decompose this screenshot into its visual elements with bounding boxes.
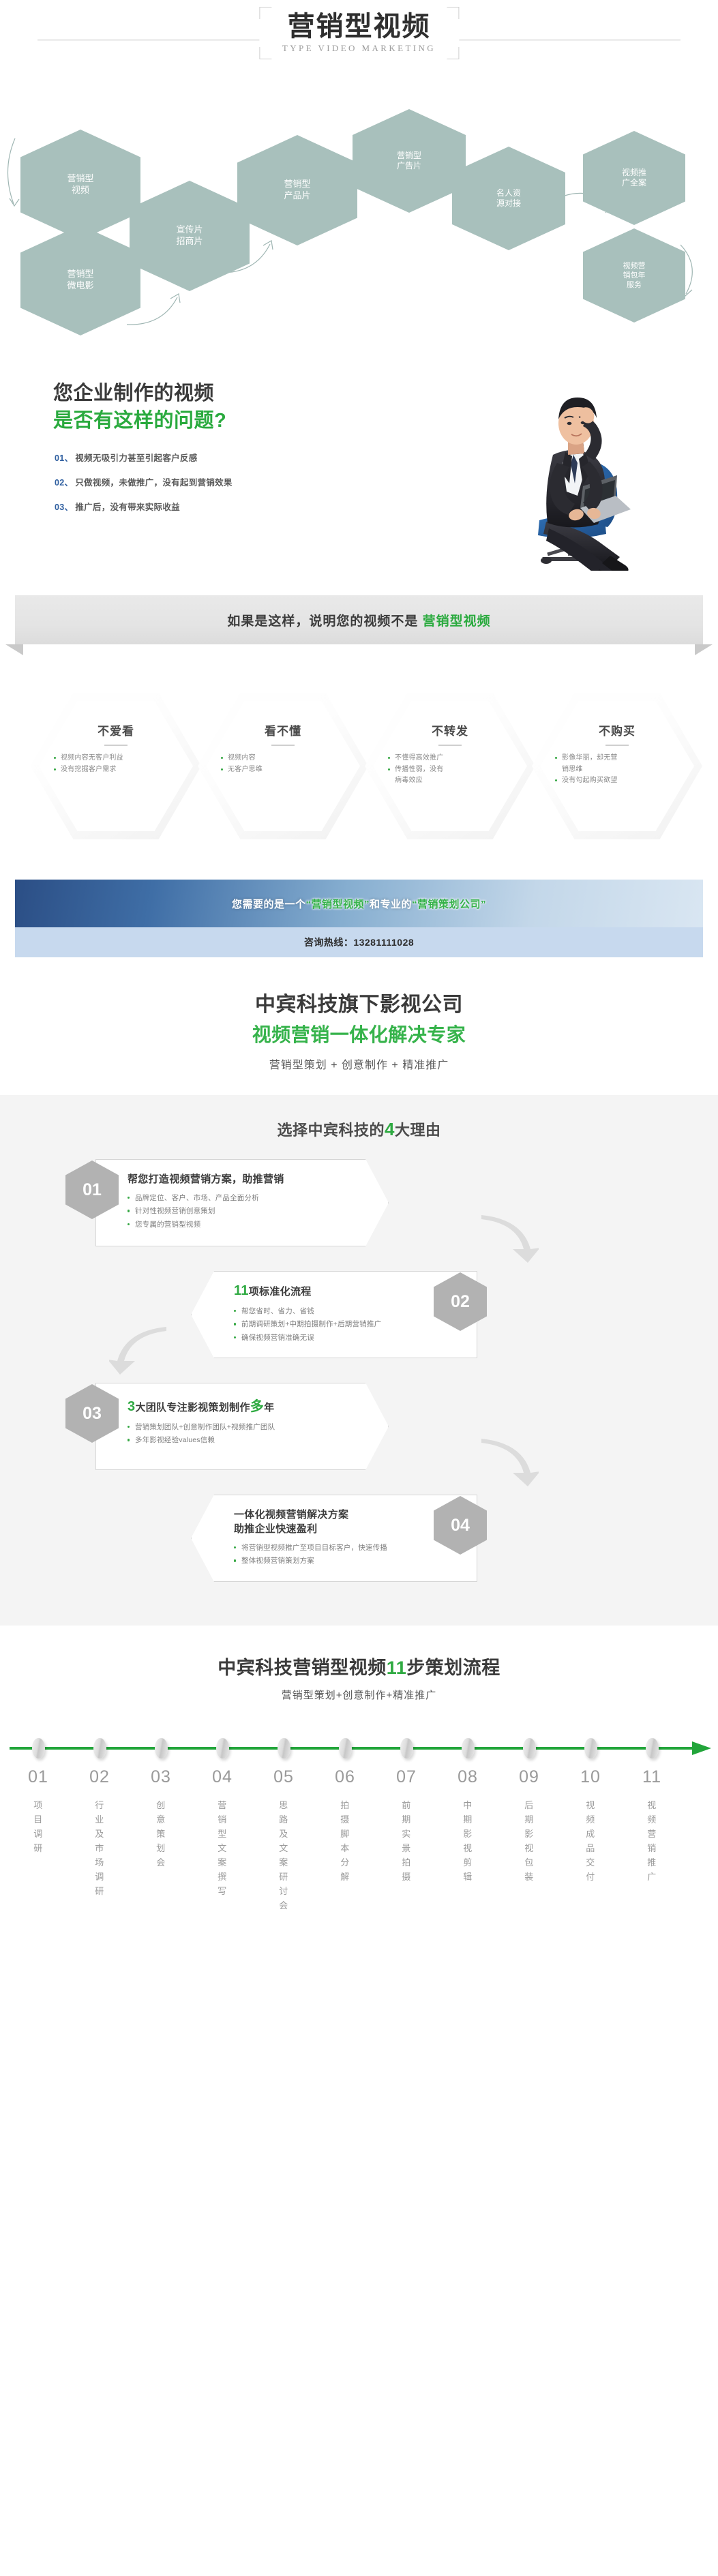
timeline-step: 09 后期影视包装 (508, 1767, 550, 1884)
service-hexagon[interactable]: 营销型视频 (20, 130, 140, 240)
timeline-step-label: 思路及文案研讨会 (263, 1798, 305, 1913)
problem-hexagon-bullet: 没有挖掘客户需求 (54, 764, 178, 776)
reason-bullets: 品牌定位、客户、市场、产品全面分析针对性视频营销创意策划您专属的营销型视频 (128, 1192, 368, 1231)
grey-ribbon-section: 如果是这样，说明您的视频不是 营销型视频 (0, 576, 718, 661)
service-hexagon-label: 名人资源对接 (488, 188, 529, 209)
problem-hexagon-bullet: 无客户思维 (221, 764, 345, 776)
corner-bracket-icon (259, 7, 271, 19)
timeline-step-label: 创意策划会 (140, 1798, 182, 1870)
timeline-node (32, 1738, 45, 1758)
reasons-heading-prefix: 选择中宾科技的 (278, 1122, 385, 1139)
timeline-node (462, 1738, 475, 1758)
service-hexagon-label: 营销型产品片 (275, 179, 318, 201)
reason-bullets: 营销策划团队+创意制作团队+视频推广团队多年影视经验values信赖 (128, 1421, 368, 1448)
divider (605, 745, 629, 746)
reason-bullet: 您专属的营销型视频 (128, 1218, 368, 1231)
timeline-step: 04 营销型文案撰写 (201, 1767, 243, 1898)
reason-flow-arrow-icon (477, 1437, 539, 1491)
timeline-node (646, 1738, 659, 1758)
timeline-step-label: 中期影视剪辑 (447, 1798, 489, 1884)
ribbon-tail-left (5, 644, 23, 655)
timeline-step-number: 07 (385, 1767, 428, 1787)
timeline-step-number: 04 (201, 1767, 243, 1787)
problem-item-text: 只做视频，未做推广，没有起到营销效果 (75, 478, 232, 488)
reason-bullet: 确保视频营销准确无误 (234, 1332, 456, 1345)
reason-bullet: 针对性视频营销创意策划 (128, 1205, 368, 1218)
four-reasons-section: 选择中宾科技的4大理由 帮您打造视频营销方案，助推营销 品牌定位、客户、市场、产… (0, 1095, 718, 1626)
timeline-step-label: 视频成品交付 (569, 1798, 612, 1884)
timeline-step-number: 05 (263, 1767, 305, 1787)
service-hexagon-cloud: 营销型视频宣传片招商片营销型产品片营销型广告片名人资源对接视频推广全案营销型微电… (0, 95, 718, 358)
businessman-illustration (466, 353, 691, 571)
reason-row: 帮您打造视频营销方案，助推营销 品牌定位、客户、市场、产品全面分析针对性视频营销… (0, 1151, 718, 1252)
reason-card-title: 11项标准化流程 (234, 1283, 456, 1299)
cta-blue-band: 您需要的是一个“营销型视频”和专业的“营销策划公司” (15, 880, 703, 927)
company-services: 营销型策划 + 创意制作 + 精准推广 (0, 1055, 718, 1072)
cta-section: 您需要的是一个“营销型视频”和专业的“营销策划公司” 咨询热线：13281111… (0, 873, 718, 982)
reason-flow-arrow-icon (477, 1214, 539, 1268)
timeline-node (339, 1738, 352, 1758)
problem-hexagon-bullet: 视频内容无客户利益 (54, 753, 178, 764)
problem-list: 01、视频无吸引力甚至引起客户反感02、只做视频，未做推广，没有起到营销效果03… (55, 451, 233, 524)
reason-bullet: 前期调研策划+中期拍摄制作+后期营销推广 (234, 1318, 456, 1331)
reason-flow-arrow-icon (109, 1326, 170, 1379)
timeline-step-number: 09 (508, 1767, 550, 1787)
service-hexagon[interactable]: 营销型微电影 (20, 225, 140, 335)
problem-hexagon-title: 看不懂 (198, 721, 368, 738)
timeline-step-label: 项目调研 (17, 1798, 59, 1855)
timeline-step-label: 后期影视包装 (508, 1798, 550, 1884)
reason-card-title: 一体化视频营销解决方案助推企业快速盈利 (234, 1507, 456, 1536)
timeline-step-number: 03 (140, 1767, 182, 1787)
problem-list-item: 02、只做视频，未做推广，没有起到营销效果 (55, 475, 233, 488)
company-headline-section: 中宾科技旗下影视公司 视频营销一体化解决专家 营销型策划 + 创意制作 + 精准… (0, 982, 718, 1095)
problem-hexagon-content: 看不懂 视频内容无客户思维 (198, 693, 368, 839)
reasons-heading: 选择中宾科技的4大理由 (0, 1118, 718, 1140)
reason-bullet: 将营销型视频推广至项目目标客户，快速传播 (234, 1542, 456, 1555)
timeline-step-number: 10 (569, 1767, 612, 1787)
reason-row: 一体化视频营销解决方案助推企业快速盈利 将营销型视频推广至项目目标客户，快速传播… (0, 1486, 718, 1587)
timeline-section: 中宾科技营销型视频11步策划流程 营销型策划+创意制作+精准推广 01 项目调研… (0, 1626, 718, 1969)
problem-hexagon-bullets: 视频内容无客户思维 (198, 753, 368, 775)
timeline-step-label: 视频营销推广 (631, 1798, 673, 1884)
divider (104, 745, 128, 746)
problem-item-text: 推广后，没有带来实际收益 (75, 503, 180, 512)
problem-hexagon-title: 不购买 (532, 721, 702, 738)
problem-hexagon-title: 不爱看 (31, 721, 201, 738)
marketing-video-landing-page: 营销型视频 TYPE VIDEO MARKETING 营销型视频宣 (0, 0, 718, 1969)
problem-hexagon-bullets: 影像华丽，却无营销思维没有勾起购买欲望 (532, 753, 702, 787)
timeline-subtitle: 营销型策划+创意制作+精准推广 (0, 1688, 718, 1702)
timeline-step-label: 前期实景拍摄 (385, 1798, 428, 1884)
problem-hexagon-bullet: 不懂得高效推广 (388, 753, 512, 764)
timeline-step: 06 拍摄脚本分解 (324, 1767, 366, 1884)
reason-bullets: 帮您省时、省力、省钱前期调研策划+中期拍摄制作+后期营销推广确保视频营销准确无误 (234, 1305, 456, 1345)
service-hexagon-label: 视频推广全案 (614, 168, 655, 189)
timeline-track (0, 1729, 718, 1767)
problem-heading: 您企业制作的视频 是否有这样的问题? (53, 380, 226, 434)
problem-hexagon-bullets: 不懂得高效推广传播性弱，没有病毒效应 (365, 753, 535, 787)
reason-bullet: 多年影视经验values信赖 (128, 1434, 368, 1447)
reason-card-title: 帮您打造视频营销方案，助推营销 (128, 1171, 368, 1186)
timeline-step: 01 项目调研 (17, 1767, 59, 1855)
problem-hexagon-bullet: 病毒效应 (388, 775, 512, 787)
problem-heading-line1: 您企业制作的视频 (53, 383, 214, 404)
reason-row: 3大团队专注影视策划制作多年 营销策划团队+创意制作团队+视频推广团队多年影视经… (0, 1375, 718, 1476)
service-hexagon[interactable]: 名人资源对接 (452, 147, 565, 250)
problem-hexagons-section: 不爱看 视频内容无客户利益没有挖掘客户需求看不懂 视频内容无客户思维不转发 不懂… (0, 661, 718, 873)
timeline-step: 03 创意策划会 (140, 1767, 182, 1870)
timeline-node (523, 1738, 536, 1758)
company-tagline: 视频营销一体化解决专家 (0, 1020, 718, 1047)
timeline-node (216, 1738, 229, 1758)
ribbon-tail-right (695, 644, 713, 655)
problem-item-text: 视频无吸引力甚至引起客户反感 (75, 453, 197, 463)
problem-hexagon-bullet: 视频内容 (221, 753, 345, 764)
timeline-step-number: 08 (447, 1767, 489, 1787)
timeline-step: 10 视频成品交付 (569, 1767, 612, 1884)
timeline-step: 05 思路及文案研讨会 (263, 1767, 305, 1913)
timeline-step: 02 行业及市场调研 (78, 1767, 121, 1898)
reason-bullets: 将营销型视频推广至项目目标客户，快速传播整体视频营销策划方案 (234, 1542, 456, 1568)
ribbon-text: 如果是这样，说明您的视频不是 营销型视频 (227, 611, 490, 629)
cta-hotline-band[interactable]: 咨询热线：13281111028 (15, 927, 703, 957)
problem-hexagon-bullet: 影像华丽，却无营 (555, 753, 679, 764)
problem-heading-line2: 是否有这样的问题? (53, 410, 226, 432)
timeline-step-number: 11 (631, 1767, 673, 1787)
service-hexagon[interactable]: 宣传片招商片 (130, 181, 250, 291)
reason-row: 11项标准化流程 帮您省时、省力、省钱前期调研策划+中期拍摄制作+后期营销推广确… (0, 1263, 718, 1364)
cta-text: 您需要的是一个“营销型视频”和专业的“营销策划公司” (232, 897, 486, 911)
service-hexagon[interactable]: 营销型广告片 (353, 109, 466, 213)
problem-hexagon-bullet: 销思维 (555, 764, 679, 776)
service-hexagon-label: 视频营销包年服务 (615, 261, 654, 290)
masthead-section: 营销型视频 TYPE VIDEO MARKETING (0, 0, 718, 95)
timeline-step-number: 01 (17, 1767, 59, 1787)
problem-hexagon-content: 不购买 影像华丽，却无营销思维没有勾起购买欲望 (532, 693, 702, 839)
timeline-node (93, 1738, 106, 1758)
timeline-node (400, 1738, 413, 1758)
reason-card[interactable]: 帮您打造视频营销方案，助推营销 品牌定位、客户、市场、产品全面分析针对性视频营销… (95, 1159, 389, 1246)
timeline-step: 11 视频营销推广 (631, 1767, 673, 1884)
problem-hexagon-content: 不转发 不懂得高效推广传播性弱，没有病毒效应 (365, 693, 535, 839)
divider (271, 745, 295, 746)
page-title: 营销型视频 (282, 11, 436, 42)
problem-hexagon-title: 不转发 (365, 721, 535, 738)
reasons-heading-suffix: 大理由 (395, 1122, 441, 1139)
ribbon-band: 如果是这样，说明您的视频不是 营销型视频 (15, 595, 703, 644)
masthead-title-box: 营销型视频 TYPE VIDEO MARKETING (259, 7, 459, 59)
divider (438, 745, 462, 746)
problem-hexagon-content: 不爱看 视频内容无客户利益没有挖掘客户需求 (31, 693, 201, 839)
corner-bracket-icon (447, 7, 459, 19)
reason-card[interactable]: 3大团队专注影视策划制作多年 营销策划团队+创意制作团队+视频推广团队多年影视经… (95, 1383, 389, 1470)
corner-bracket-icon (447, 47, 459, 59)
reason-bullet: 营销策划团队+创意制作团队+视频推广团队 (128, 1421, 368, 1434)
service-hexagon-label: 营销型视频 (59, 173, 102, 196)
reason-rows: 帮您打造视频营销方案，助推营销 品牌定位、客户、市场、产品全面分析针对性视频营销… (0, 1151, 718, 1587)
reasons-heading-number: 4 (385, 1119, 395, 1139)
service-hexagon[interactable]: 营销型产品片 (237, 135, 357, 245)
problem-item-number: 01、 (55, 453, 73, 463)
timeline-arrow-icon (692, 1741, 711, 1755)
reason-card-title: 3大团队专注影视策划制作多年 (128, 1395, 368, 1415)
problem-list-item: 03、推广后，没有带来实际收益 (55, 500, 233, 513)
timeline-node (584, 1738, 597, 1758)
problem-hexagon-bullet: 没有勾起购买欲望 (555, 775, 679, 787)
timeline-heading-block: 中宾科技营销型视频11步策划流程 营销型策划+创意制作+精准推广 (0, 1653, 718, 1702)
corner-bracket-icon (259, 47, 271, 59)
service-hexagon[interactable]: 视频营销包年服务 (583, 228, 685, 323)
timeline-heading: 中宾科技营销型视频11步策划流程 (0, 1653, 718, 1679)
problem-statement-section: 您企业制作的视频 是否有这样的问题? 01、视频无吸引力甚至引起客户反感02、只… (0, 358, 718, 576)
service-hexagon[interactable]: 视频推广全案 (583, 131, 685, 225)
page-subtitle: TYPE VIDEO MARKETING (282, 43, 436, 54)
timeline-step-label: 营销型文案撰写 (201, 1798, 243, 1898)
problem-item-number: 02、 (55, 478, 73, 488)
timeline-node (155, 1738, 168, 1758)
service-hexagon-label: 营销型微电影 (59, 269, 102, 291)
timeline-step-label: 拍摄脚本分解 (324, 1798, 366, 1884)
timeline-node (278, 1738, 290, 1758)
problem-item-number: 03、 (55, 503, 73, 512)
company-name: 中宾科技旗下影视公司 (0, 987, 718, 1017)
problem-list-item: 01、视频无吸引力甚至引起客户反感 (55, 451, 233, 464)
businessman-with-laptop-image (466, 353, 691, 571)
timeline-steps: 01 项目调研02 行业及市场调研03 创意策划会04 营销型文案撰写05 思路… (0, 1767, 718, 1938)
timeline-step-label: 行业及市场调研 (78, 1798, 121, 1898)
timeline-step: 08 中期影视剪辑 (447, 1767, 489, 1884)
reason-bullet: 整体视频营销策划方案 (234, 1555, 456, 1568)
timeline-step-number: 02 (78, 1767, 121, 1787)
timeline-step-number: 06 (324, 1767, 366, 1787)
problem-hexagon-bullet: 传播性弱，没有 (388, 764, 512, 776)
service-hexagon-label: 营销型广告片 (389, 151, 430, 172)
reason-bullet: 帮您省时、省力、省钱 (234, 1305, 456, 1318)
timeline-step: 07 前期实景拍摄 (385, 1767, 428, 1884)
problem-hexagon-bullets: 视频内容无客户利益没有挖掘客户需求 (31, 753, 201, 775)
reason-bullet: 品牌定位、客户、市场、产品全面分析 (128, 1192, 368, 1205)
service-hexagon-label: 宣传片招商片 (168, 224, 211, 247)
hotline-text: 咨询热线：13281111028 (304, 935, 414, 949)
